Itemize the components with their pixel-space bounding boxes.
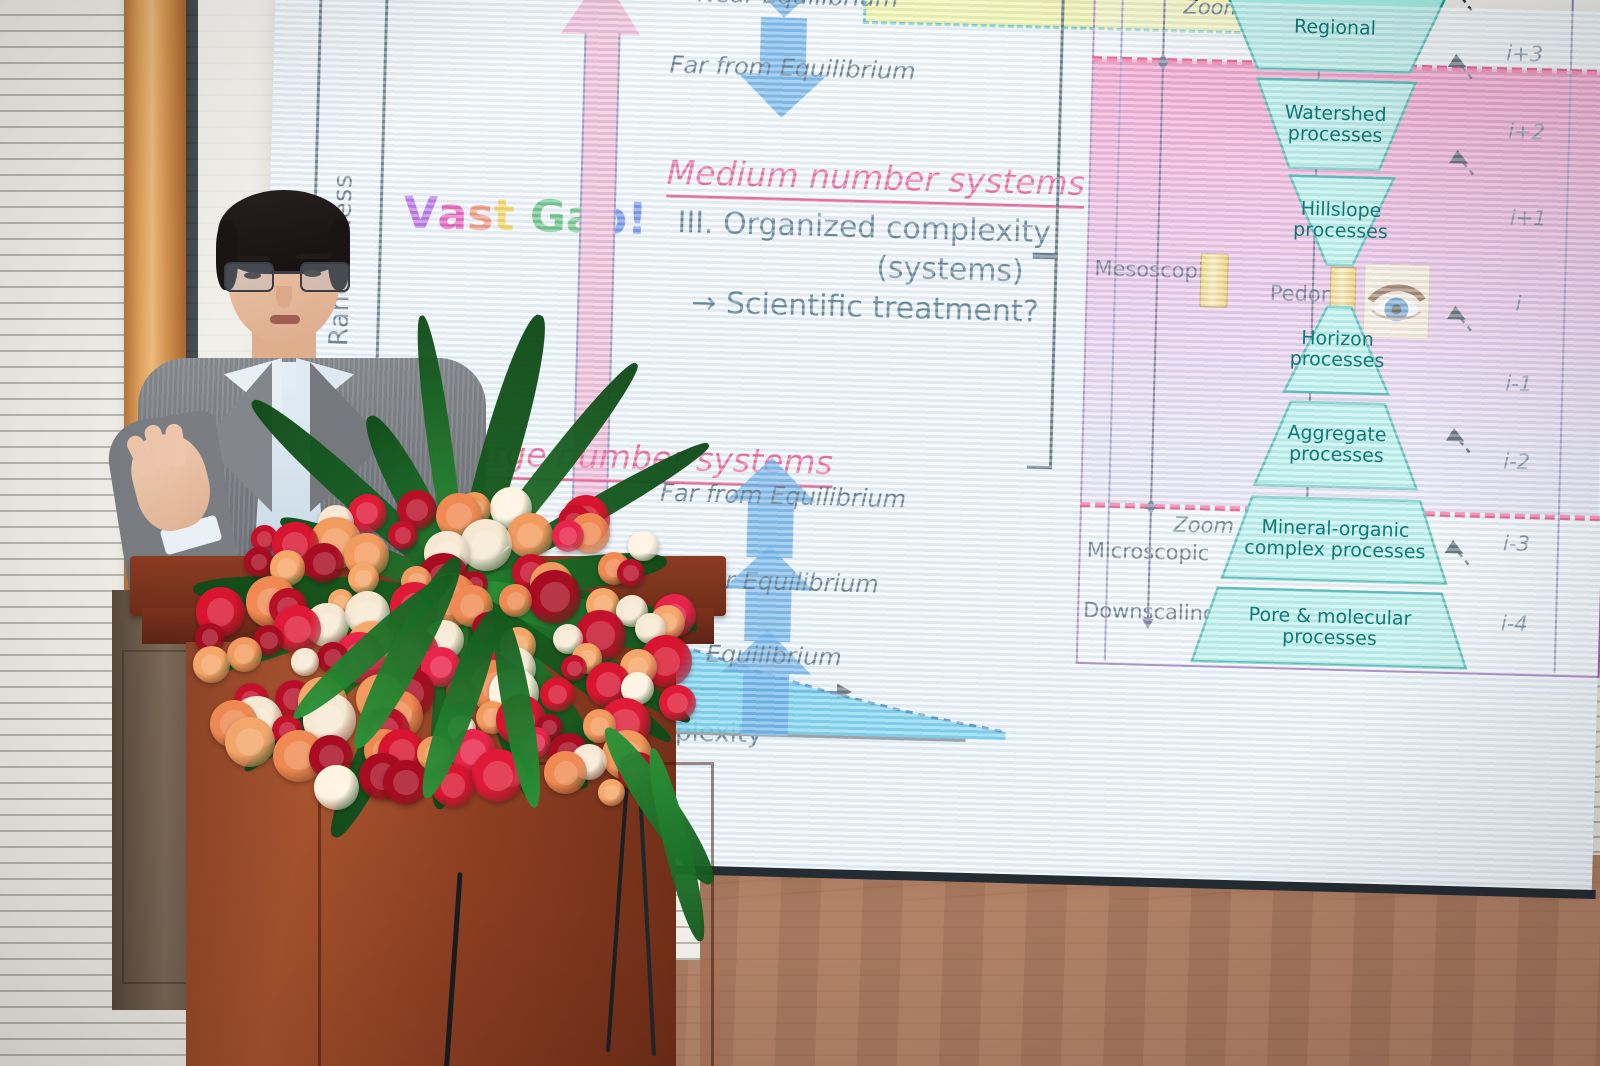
pink-arrow-head <box>561 0 643 36</box>
flower-head <box>659 685 696 722</box>
flower-head <box>507 513 552 558</box>
flower-head <box>314 765 359 810</box>
nose <box>276 286 292 308</box>
label-microscopic: Microscopic <box>1086 538 1209 565</box>
trapezoid-hillslope-label-2: processes <box>1287 218 1394 243</box>
vast-gap-letter: ! <box>627 194 648 246</box>
eyebrow-right <box>296 254 330 259</box>
scale-index-i3: i+3 <box>1506 41 1543 66</box>
flower-head <box>617 559 645 587</box>
eyebrow-left <box>236 256 270 261</box>
scale-index-im2: i-2 <box>1503 449 1530 474</box>
far-from-equilibrium-label-top: Far from Equilibrium <box>669 51 916 86</box>
flower-head <box>244 547 274 577</box>
flower-head <box>227 637 262 672</box>
vast-gap-letter <box>514 191 531 242</box>
medium-systems-bracket-bottom <box>1027 253 1058 470</box>
trapezoid-regional-label: Regional <box>1288 16 1382 39</box>
flower-head <box>540 677 575 712</box>
medium-systems-line-2: (systems) <box>876 250 1024 289</box>
trapezoid-pore-label-2: processes <box>1276 625 1383 650</box>
mouth <box>270 315 300 324</box>
trapezoid-mineral-organic: Mineral-organic complex processes <box>1218 494 1452 586</box>
label-mesoscopic: Mesoscopic <box>1094 256 1215 283</box>
flower-head <box>388 521 418 551</box>
screenshot-root: Randomness Complexity Vast Gap! <box>0 0 1600 1066</box>
far-from-equilibrium-text-top: Far from Equilibrium <box>669 51 916 86</box>
scale-index-im1: i-1 <box>1505 371 1532 396</box>
trapezoid-hillslope: Hillslope processes <box>1285 173 1397 268</box>
trapezoid-horizon: Horizon processes <box>1281 303 1393 396</box>
scale-index-im3: i-3 <box>1503 531 1530 556</box>
scale-index-i: i <box>1515 292 1521 316</box>
vast-gap-letter: G <box>529 191 566 243</box>
vast-gap-letter: t <box>493 190 515 242</box>
medium-systems-line-3: → Scientific treatment? <box>691 285 1039 329</box>
medium-systems-line-1: III. Organized complexity <box>677 205 1051 250</box>
trapezoid-aggregate-label-2: processes <box>1283 442 1390 467</box>
scale-index-im4: i-4 <box>1501 611 1528 636</box>
trapezoid-watershed-label-2: processes <box>1282 122 1389 147</box>
label-pedon: Pedon <box>1269 281 1334 307</box>
flower-head <box>193 646 230 683</box>
flower-bouquet <box>160 418 760 998</box>
trapezoid-horizon-label-2: processes <box>1283 347 1390 372</box>
scale-index-i2: i+2 <box>1508 119 1545 144</box>
trapezoid-aggregate: Aggregate processes <box>1251 399 1423 492</box>
flower-head <box>598 779 625 806</box>
medium-number-systems-title: Medium number systems <box>666 153 1085 209</box>
flower-head <box>552 520 584 552</box>
flower-head <box>528 570 581 623</box>
soil-core-icon-left <box>1199 253 1228 308</box>
scale-index-i1: i+1 <box>1510 205 1547 230</box>
flower-head <box>628 531 659 562</box>
trapezoid-watershed: Watershed processes <box>1251 76 1419 172</box>
trapezoid-regional: Regional <box>1214 0 1456 76</box>
flower-head <box>291 648 319 676</box>
medium-systems-bracket-top <box>1033 0 1066 259</box>
